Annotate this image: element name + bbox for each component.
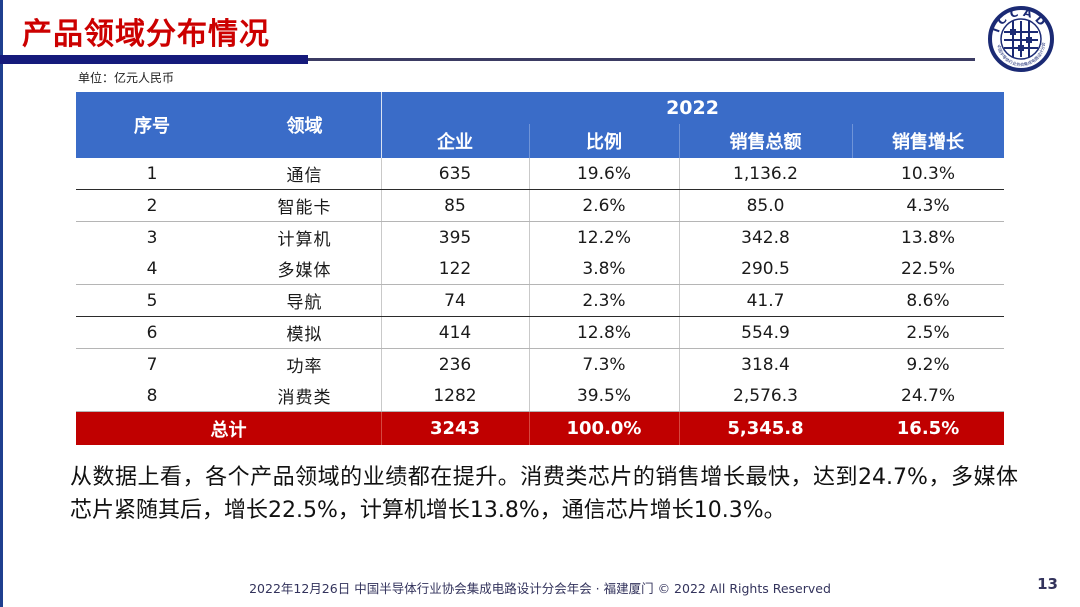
cell-enterprises: 236 xyxy=(381,349,529,381)
cell-field: 计算机 xyxy=(228,222,381,254)
cell-index: 7 xyxy=(76,349,228,381)
cell-field: 导航 xyxy=(228,285,381,317)
cell-growth: 24.7% xyxy=(852,380,1004,412)
col-header-enterprises: 企业 xyxy=(381,124,529,158)
cell-share: 39.5% xyxy=(529,380,679,412)
cell-field: 通信 xyxy=(228,158,381,190)
cell-share: 19.6% xyxy=(529,158,679,190)
cell-index: 1 xyxy=(76,158,228,190)
col-header-field: 领域 xyxy=(228,92,381,158)
cell-enterprises: 122 xyxy=(381,253,529,285)
col-header-share: 比例 xyxy=(529,124,679,158)
cell-index: 3 xyxy=(76,222,228,254)
cell-growth: 9.2% xyxy=(852,349,1004,381)
cell-index: 4 xyxy=(76,253,228,285)
cell-index: 2 xyxy=(76,190,228,222)
cell-sales: 85.0 xyxy=(679,190,852,222)
cell-enterprises: 635 xyxy=(381,158,529,190)
total-growth: 16.5% xyxy=(852,412,1004,446)
total-enterprises: 3243 xyxy=(381,412,529,446)
table-row: 5 导航 74 2.3% 41.7 8.6% xyxy=(76,285,1004,317)
cell-growth: 8.6% xyxy=(852,285,1004,317)
title-underline-bar xyxy=(0,55,308,64)
iccad-logo: I C C A D 中国半导体行业协会集成电路设计分会 xyxy=(988,6,1054,72)
cell-enterprises: 85 xyxy=(381,190,529,222)
total-label: 总计 xyxy=(76,412,381,446)
table-total-row: 总计 3243 100.0% 5,345.8 16.5% xyxy=(76,412,1004,446)
table-row: 1 通信 635 19.6% 1,136.2 10.3% xyxy=(76,158,1004,190)
cell-field: 模拟 xyxy=(228,317,381,349)
table-row: 3 计算机 395 12.2% 342.8 13.8% xyxy=(76,222,1004,254)
unit-caption: 单位：亿元人民币 xyxy=(78,69,174,86)
cell-field: 功率 xyxy=(228,349,381,381)
cell-sales: 2,576.3 xyxy=(679,380,852,412)
footer-copyright: 2022年12月26日 中国半导体行业协会集成电路设计分会年会 · 福建厦门 ©… xyxy=(0,578,1080,597)
product-field-distribution-table: 序号 领域 2022 企业 比例 销售总额 销售增长 1 通信 635 19.6… xyxy=(76,92,1004,445)
cell-growth: 4.3% xyxy=(852,190,1004,222)
col-header-year-group: 2022 xyxy=(381,92,1004,124)
cell-field: 智能卡 xyxy=(228,190,381,222)
table-row: 7 功率 236 7.3% 318.4 9.2% xyxy=(76,349,1004,381)
cell-field: 消费类 xyxy=(228,380,381,412)
cell-share: 7.3% xyxy=(529,349,679,381)
table-body: 1 通信 635 19.6% 1,136.2 10.3% 2 智能卡 85 2.… xyxy=(76,158,1004,445)
cell-growth: 13.8% xyxy=(852,222,1004,254)
total-sales: 5,345.8 xyxy=(679,412,852,446)
analysis-paragraph: 从数据上看，各个产品领域的业绩都在提升。消费类芯片的销售增长最快，达到24.7%… xyxy=(70,461,1018,527)
page-number: 13 xyxy=(1037,575,1058,593)
cell-sales: 41.7 xyxy=(679,285,852,317)
cell-sales: 342.8 xyxy=(679,222,852,254)
col-header-index: 序号 xyxy=(76,92,228,158)
cell-share: 2.3% xyxy=(529,285,679,317)
cell-index: 6 xyxy=(76,317,228,349)
cell-enterprises: 1282 xyxy=(381,380,529,412)
cell-index: 8 xyxy=(76,380,228,412)
cell-growth: 2.5% xyxy=(852,317,1004,349)
cell-share: 12.8% xyxy=(529,317,679,349)
table-header-row-1: 序号 领域 2022 xyxy=(76,92,1004,124)
cell-sales: 290.5 xyxy=(679,253,852,285)
left-edge-accent-rule xyxy=(0,0,3,607)
cell-sales: 554.9 xyxy=(679,317,852,349)
cell-index: 5 xyxy=(76,285,228,317)
cell-growth: 22.5% xyxy=(852,253,1004,285)
cell-share: 3.8% xyxy=(529,253,679,285)
cell-share: 12.2% xyxy=(529,222,679,254)
cell-growth: 10.3% xyxy=(852,158,1004,190)
total-share: 100.0% xyxy=(529,412,679,446)
table-row: 6 模拟 414 12.8% 554.9 2.5% xyxy=(76,317,1004,349)
cell-sales: 318.4 xyxy=(679,349,852,381)
table-row: 4 多媒体 122 3.8% 290.5 22.5% xyxy=(76,253,1004,285)
table-row: 8 消费类 1282 39.5% 2,576.3 24.7% xyxy=(76,380,1004,412)
cell-enterprises: 395 xyxy=(381,222,529,254)
cell-sales: 1,136.2 xyxy=(679,158,852,190)
cell-enterprises: 414 xyxy=(381,317,529,349)
title-underline-rule xyxy=(308,58,975,61)
cell-field: 多媒体 xyxy=(228,253,381,285)
page-title: 产品领域分布情况 xyxy=(22,9,270,53)
table-row: 2 智能卡 85 2.6% 85.0 4.3% xyxy=(76,190,1004,222)
cell-enterprises: 74 xyxy=(381,285,529,317)
col-header-growth: 销售增长 xyxy=(852,124,1004,158)
col-header-sales: 销售总额 xyxy=(679,124,852,158)
cell-share: 2.6% xyxy=(529,190,679,222)
